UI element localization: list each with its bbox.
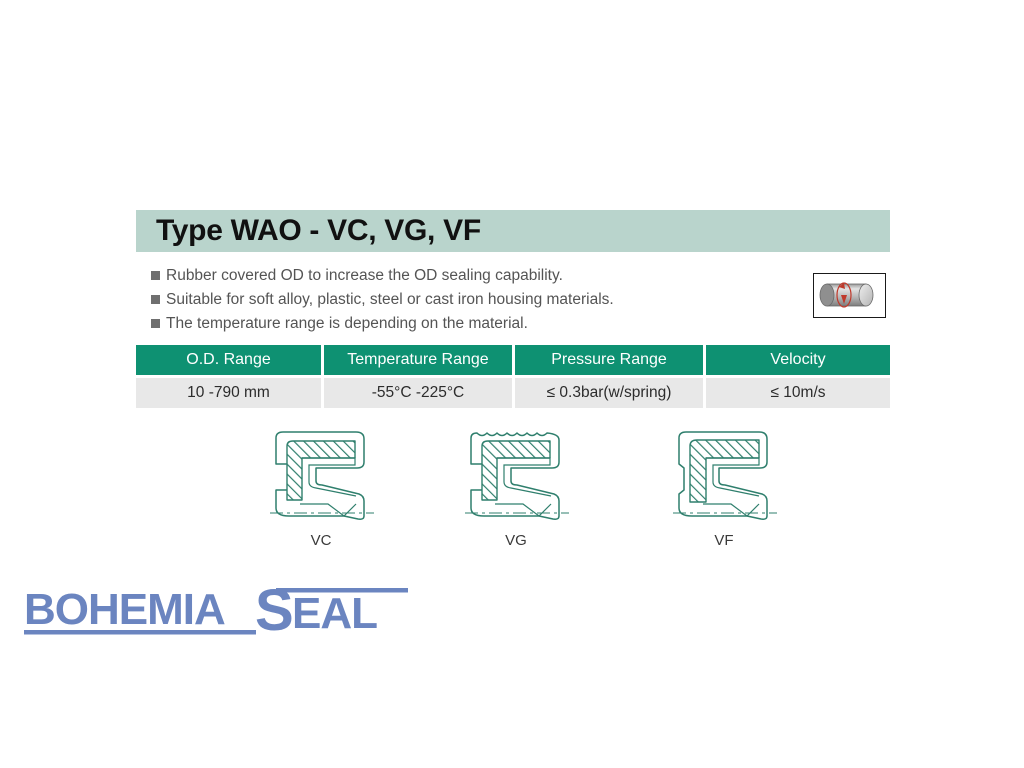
spec-table: O.D. Range Temperature Range Pressure Ra… bbox=[136, 345, 890, 408]
feature-item: Rubber covered OD to increase the OD sea… bbox=[151, 264, 751, 288]
cell-temperature-range: -55°C -225°C bbox=[324, 378, 512, 408]
seal-cross-section-vf-icon bbox=[659, 424, 789, 534]
feature-label: Rubber covered OD to increase the OD sea… bbox=[166, 264, 563, 288]
seal-caption-vf: VF bbox=[659, 532, 789, 549]
table-row: 10 -790 mm -55°C -225°C ≤ 0.3bar(w/sprin… bbox=[136, 378, 890, 408]
feature-label: Suitable for soft alloy, plastic, steel … bbox=[166, 288, 614, 312]
square-bullet-icon bbox=[151, 319, 160, 328]
title-banner: Type WAO - VC, VG, VF bbox=[136, 210, 890, 252]
brand-logo: BOHEMIA S EAL BOHEMIA SEAL bbox=[18, 578, 418, 648]
feature-list: Rubber covered OD to increase the OD sea… bbox=[151, 264, 751, 336]
cell-velocity: ≤ 10m/s bbox=[706, 378, 890, 408]
seal-caption-vg: VG bbox=[451, 532, 581, 549]
seal-cross-section-vg-icon bbox=[451, 424, 581, 534]
feature-label: The temperature range is depending on th… bbox=[166, 312, 528, 336]
page-title: Type WAO - VC, VG, VF bbox=[156, 214, 481, 248]
svg-text:S: S bbox=[255, 578, 294, 643]
column-header-pressure-range: Pressure Range bbox=[515, 345, 703, 375]
svg-text:EAL: EAL bbox=[292, 589, 377, 638]
feature-item: The temperature range is depending on th… bbox=[151, 312, 751, 336]
rotating-shaft-icon-box bbox=[813, 273, 886, 318]
cell-od-range: 10 -790 mm bbox=[136, 378, 321, 408]
seal-figure-vf: VF bbox=[659, 424, 789, 559]
cell-pressure-range: ≤ 0.3bar(w/spring) bbox=[515, 378, 703, 408]
seal-cross-section-vc-icon bbox=[256, 424, 386, 534]
seal-figure-vg: VG bbox=[451, 424, 581, 559]
table-header-row: O.D. Range Temperature Range Pressure Ra… bbox=[136, 345, 890, 375]
column-header-velocity: Velocity bbox=[706, 345, 890, 375]
square-bullet-icon bbox=[151, 295, 160, 304]
bohemia-seal-logo-icon: BOHEMIA S EAL bbox=[18, 578, 418, 648]
seal-figure-vc: VC bbox=[256, 424, 386, 559]
seal-diagram-gallery: VC VG bbox=[136, 424, 890, 559]
svg-text:BOHEMIA: BOHEMIA bbox=[24, 585, 225, 634]
square-bullet-icon bbox=[151, 271, 160, 280]
column-header-od-range: O.D. Range bbox=[136, 345, 321, 375]
column-header-temperature-range: Temperature Range bbox=[324, 345, 512, 375]
feature-item: Suitable for soft alloy, plastic, steel … bbox=[151, 288, 751, 312]
seal-caption-vc: VC bbox=[256, 532, 386, 549]
rotating-shaft-icon bbox=[814, 274, 884, 316]
